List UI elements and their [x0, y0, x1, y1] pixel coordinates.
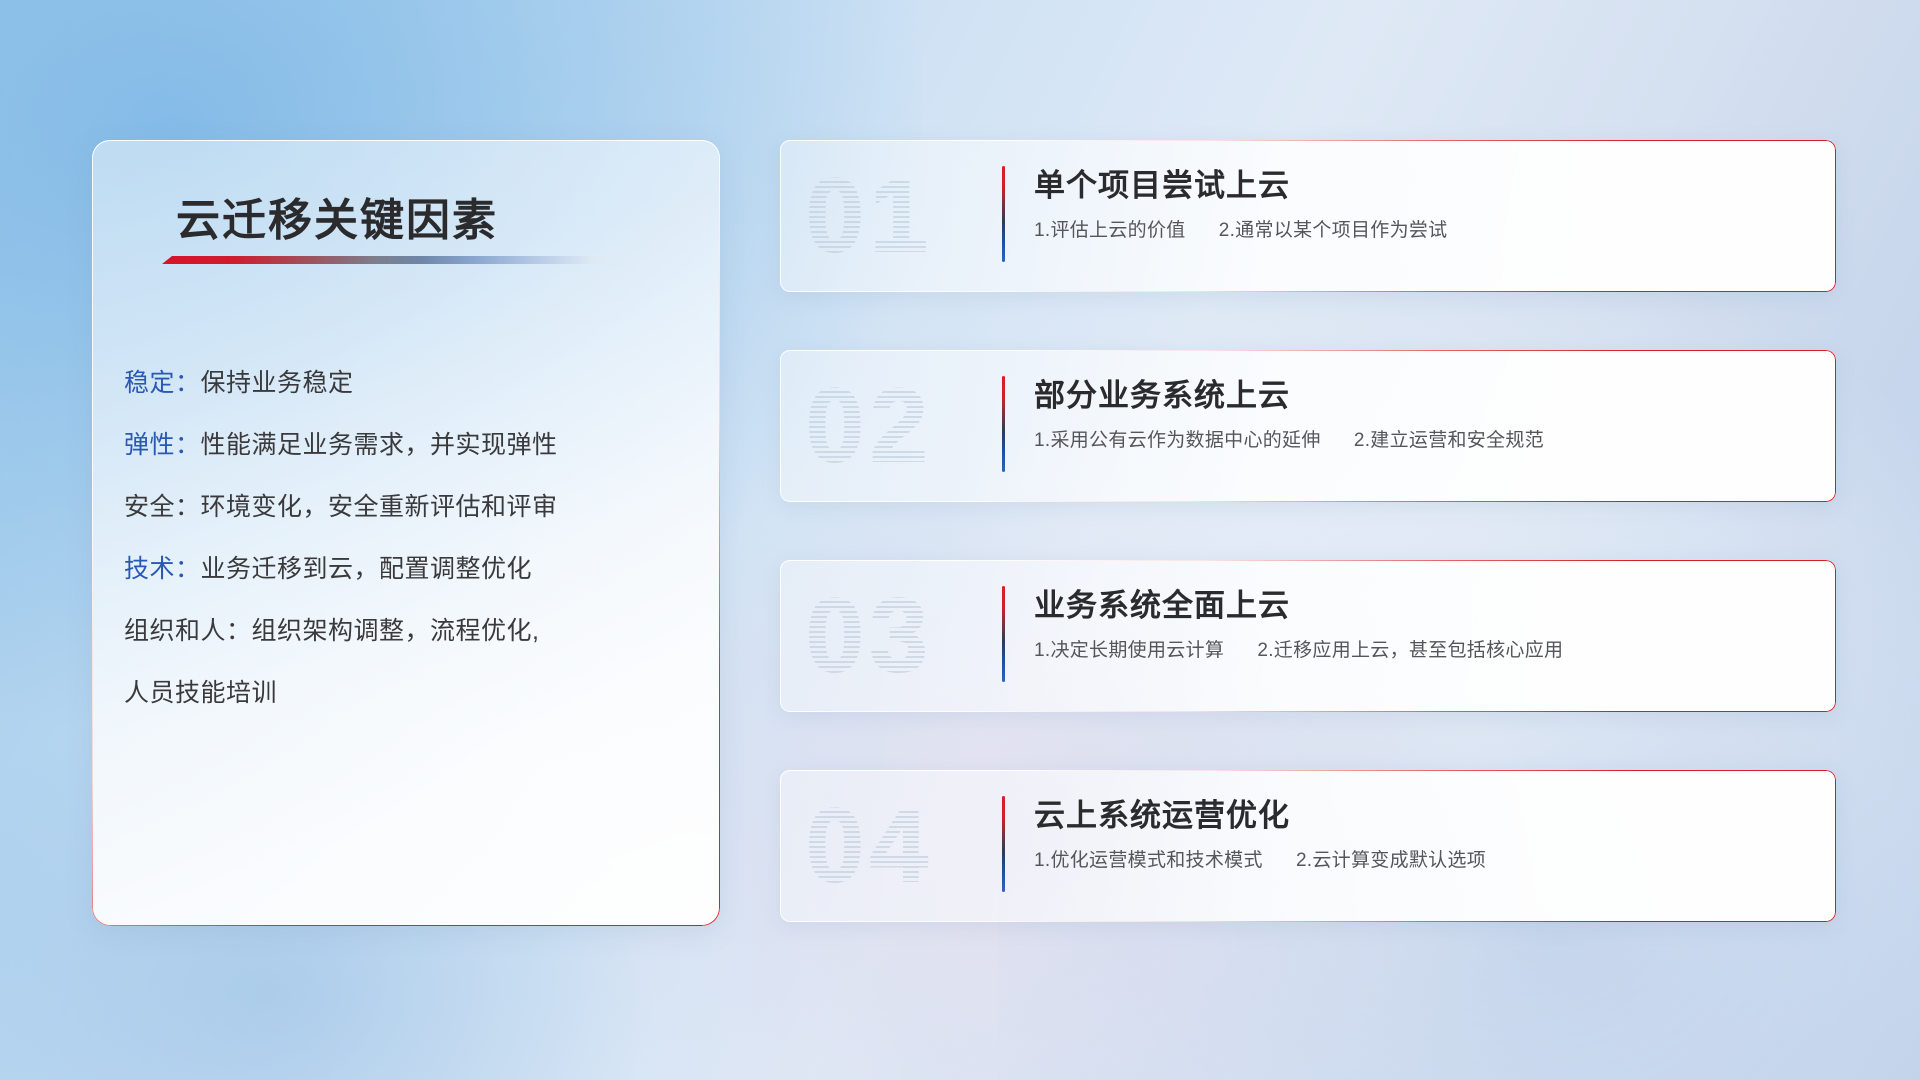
stage-card-04[interactable]: 04 云上系统运营优化 1.优化运营模式和技术模式 2.云计算变成默认选项 [780, 770, 1836, 922]
factor-value-technology: 业务迁移到云，配置调整优化 [201, 555, 533, 583]
stage-card-01[interactable]: 01 单个项目尝试上云 1.评估上云的价值 2.通常以某个项目作为尝试 [780, 140, 1836, 292]
factor-label-elasticity: 弹性： [124, 431, 201, 459]
factor-label-technology: 技术： [124, 555, 201, 583]
stage-title-03: 业务系统全面上云 [1034, 580, 1808, 625]
factor-item-stability: 稳定：保持业务稳定 [124, 352, 690, 414]
stage-title-01: 单个项目尝试上云 [1034, 160, 1808, 205]
stage-card-list: 01 单个项目尝试上云 1.评估上云的价值 2.通常以某个项目作为尝试 02 部… [780, 140, 1836, 980]
key-factors-panel: 云迁移关键因素 稳定：保持业务稳定 弹性：性能满足业务需求，并实现弹性 安全：环… [92, 140, 720, 926]
factor-label-stability: 稳定： [124, 369, 201, 397]
stage-number-02: 02 [806, 356, 996, 496]
stage-point-1: 1.采用公有云作为数据中心的延伸 [1034, 430, 1321, 451]
stage-point-2: 2.云计算变成默认选项 [1296, 850, 1486, 871]
stage-point-2: 2.迁移应用上云，甚至包括核心应用 [1257, 640, 1563, 661]
stage-number-04: 04 [806, 776, 996, 916]
stage-points-02: 1.采用公有云作为数据中心的延伸 2.建立运营和安全规范 [1034, 425, 1808, 452]
card-divider-bar [1002, 796, 1005, 892]
factor-value-organization: 组织架构调整，流程优化, [252, 617, 540, 645]
title-underline-gradient [162, 256, 610, 264]
stage-number-01: 01 [806, 146, 996, 286]
card-divider-bar [1002, 586, 1005, 682]
factor-item-security: 安全：环境变化，安全重新评估和评审 [124, 476, 690, 538]
factor-value-organization-continued: 人员技能培训 [124, 662, 690, 724]
factor-list: 稳定：保持业务稳定 弹性：性能满足业务需求，并实现弹性 安全：环境变化，安全重新… [124, 352, 690, 724]
stage-point-1: 1.评估上云的价值 [1034, 220, 1186, 241]
factor-label-organization: 组织和人： [124, 617, 252, 645]
factor-item-organization: 组织和人：组织架构调整，流程优化, [124, 600, 690, 662]
stage-card-02[interactable]: 02 部分业务系统上云 1.采用公有云作为数据中心的延伸 2.建立运营和安全规范 [780, 350, 1836, 502]
factor-item-technology: 技术：业务迁移到云，配置调整优化 [124, 538, 690, 600]
stage-points-01: 1.评估上云的价值 2.通常以某个项目作为尝试 [1034, 215, 1808, 242]
factor-label-security: 安全： [124, 493, 201, 521]
stage-points-04: 1.优化运营模式和技术模式 2.云计算变成默认选项 [1034, 845, 1808, 872]
card-divider-bar [1002, 376, 1005, 472]
stage-point-1: 1.决定长期使用云计算 [1034, 640, 1224, 661]
stage-title-04: 云上系统运营优化 [1034, 790, 1808, 835]
stage-points-03: 1.决定长期使用云计算 2.迁移应用上云，甚至包括核心应用 [1034, 635, 1808, 662]
card-body: 部分业务系统上云 1.采用公有云作为数据中心的延伸 2.建立运营和安全规范 [1034, 370, 1808, 452]
factor-value-security: 环境变化，安全重新评估和评审 [201, 493, 558, 521]
stage-number-03: 03 [806, 566, 996, 706]
factor-item-elasticity: 弹性：性能满足业务需求，并实现弹性 [124, 414, 690, 476]
stage-point-2: 2.建立运营和安全规范 [1354, 430, 1544, 451]
card-body: 单个项目尝试上云 1.评估上云的价值 2.通常以某个项目作为尝试 [1034, 160, 1808, 242]
stage-title-02: 部分业务系统上云 [1034, 370, 1808, 415]
stage-card-03[interactable]: 03 业务系统全面上云 1.决定长期使用云计算 2.迁移应用上云，甚至包括核心应… [780, 560, 1836, 712]
factor-value-stability: 保持业务稳定 [201, 369, 354, 397]
card-divider-bar [1002, 166, 1005, 262]
card-body: 业务系统全面上云 1.决定长期使用云计算 2.迁移应用上云，甚至包括核心应用 [1034, 580, 1808, 662]
stage-point-1: 1.优化运营模式和技术模式 [1034, 850, 1263, 871]
card-body: 云上系统运营优化 1.优化运营模式和技术模式 2.云计算变成默认选项 [1034, 790, 1808, 872]
factor-value-elasticity: 性能满足业务需求，并实现弹性 [201, 431, 558, 459]
stage-point-2: 2.通常以某个项目作为尝试 [1219, 220, 1448, 241]
page-title: 云迁移关键因素 [176, 184, 498, 248]
